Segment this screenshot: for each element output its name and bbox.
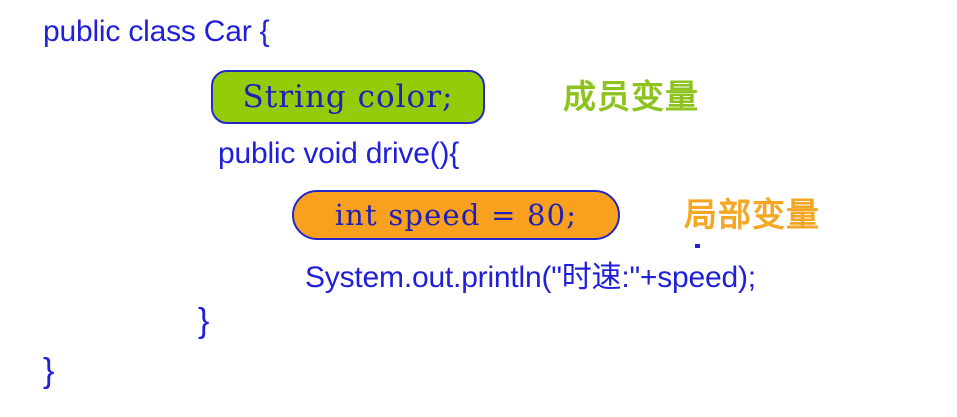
member-variable-highlight-box: String color; [211, 70, 485, 124]
local-variable-code-text: int speed = 80; [335, 201, 578, 230]
local-variable-highlight-box: int speed = 80; [292, 190, 620, 240]
code-class-closing-brace: } [43, 354, 54, 388]
code-line-method-declaration: public void drive(){ [218, 139, 459, 169]
code-line-print-statement: System.out.println("时速:"+speed); [305, 263, 756, 293]
stray-dot-mark [695, 244, 700, 248]
member-variable-annotation-label: 成员变量 [563, 80, 699, 113]
code-line-class-declaration: public class Car { [43, 17, 270, 47]
code-method-closing-brace: } [198, 304, 209, 338]
local-variable-annotation-label: 局部变量 [684, 198, 820, 231]
slide-canvas: public class Car { String color; 成员变量 pu… [0, 0, 957, 417]
member-variable-code-text: String color; [243, 82, 454, 113]
